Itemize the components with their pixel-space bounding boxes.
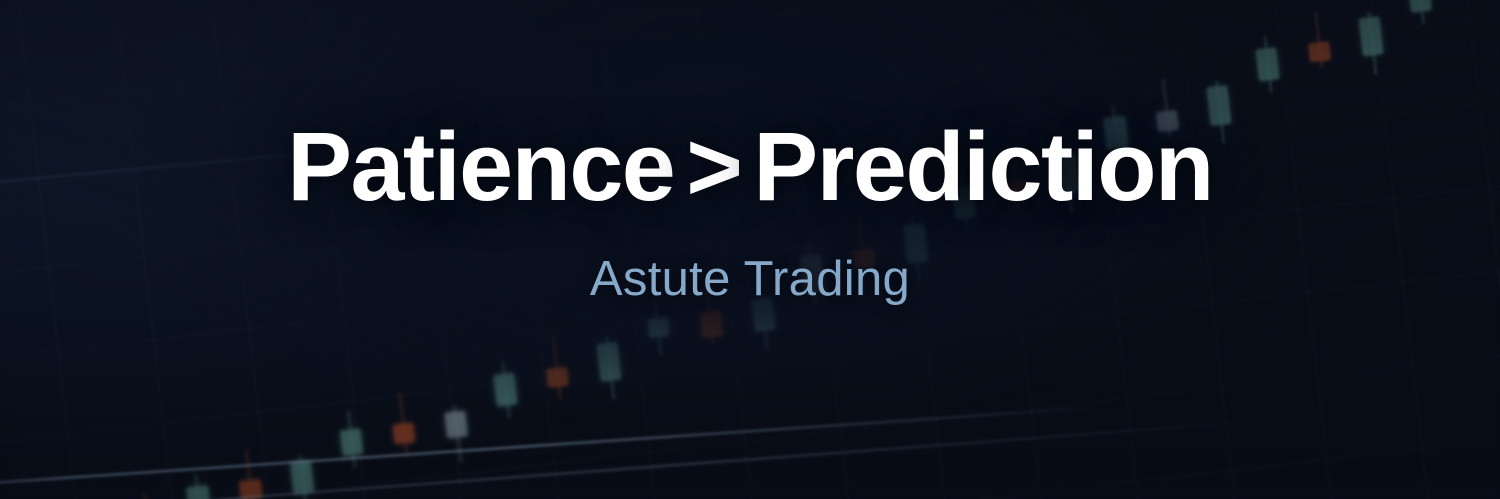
title-right-word: Prediction bbox=[753, 112, 1212, 221]
banner-content: Patience>Prediction Astute Trading bbox=[0, 0, 1500, 499]
banner: Patience>Prediction Astute Trading bbox=[0, 0, 1500, 499]
title-left-word: Patience bbox=[287, 112, 674, 221]
brand-subtitle: Astute Trading bbox=[590, 251, 910, 307]
greater-than-icon: > bbox=[674, 118, 753, 217]
page-title: Patience>Prediction bbox=[287, 118, 1212, 217]
